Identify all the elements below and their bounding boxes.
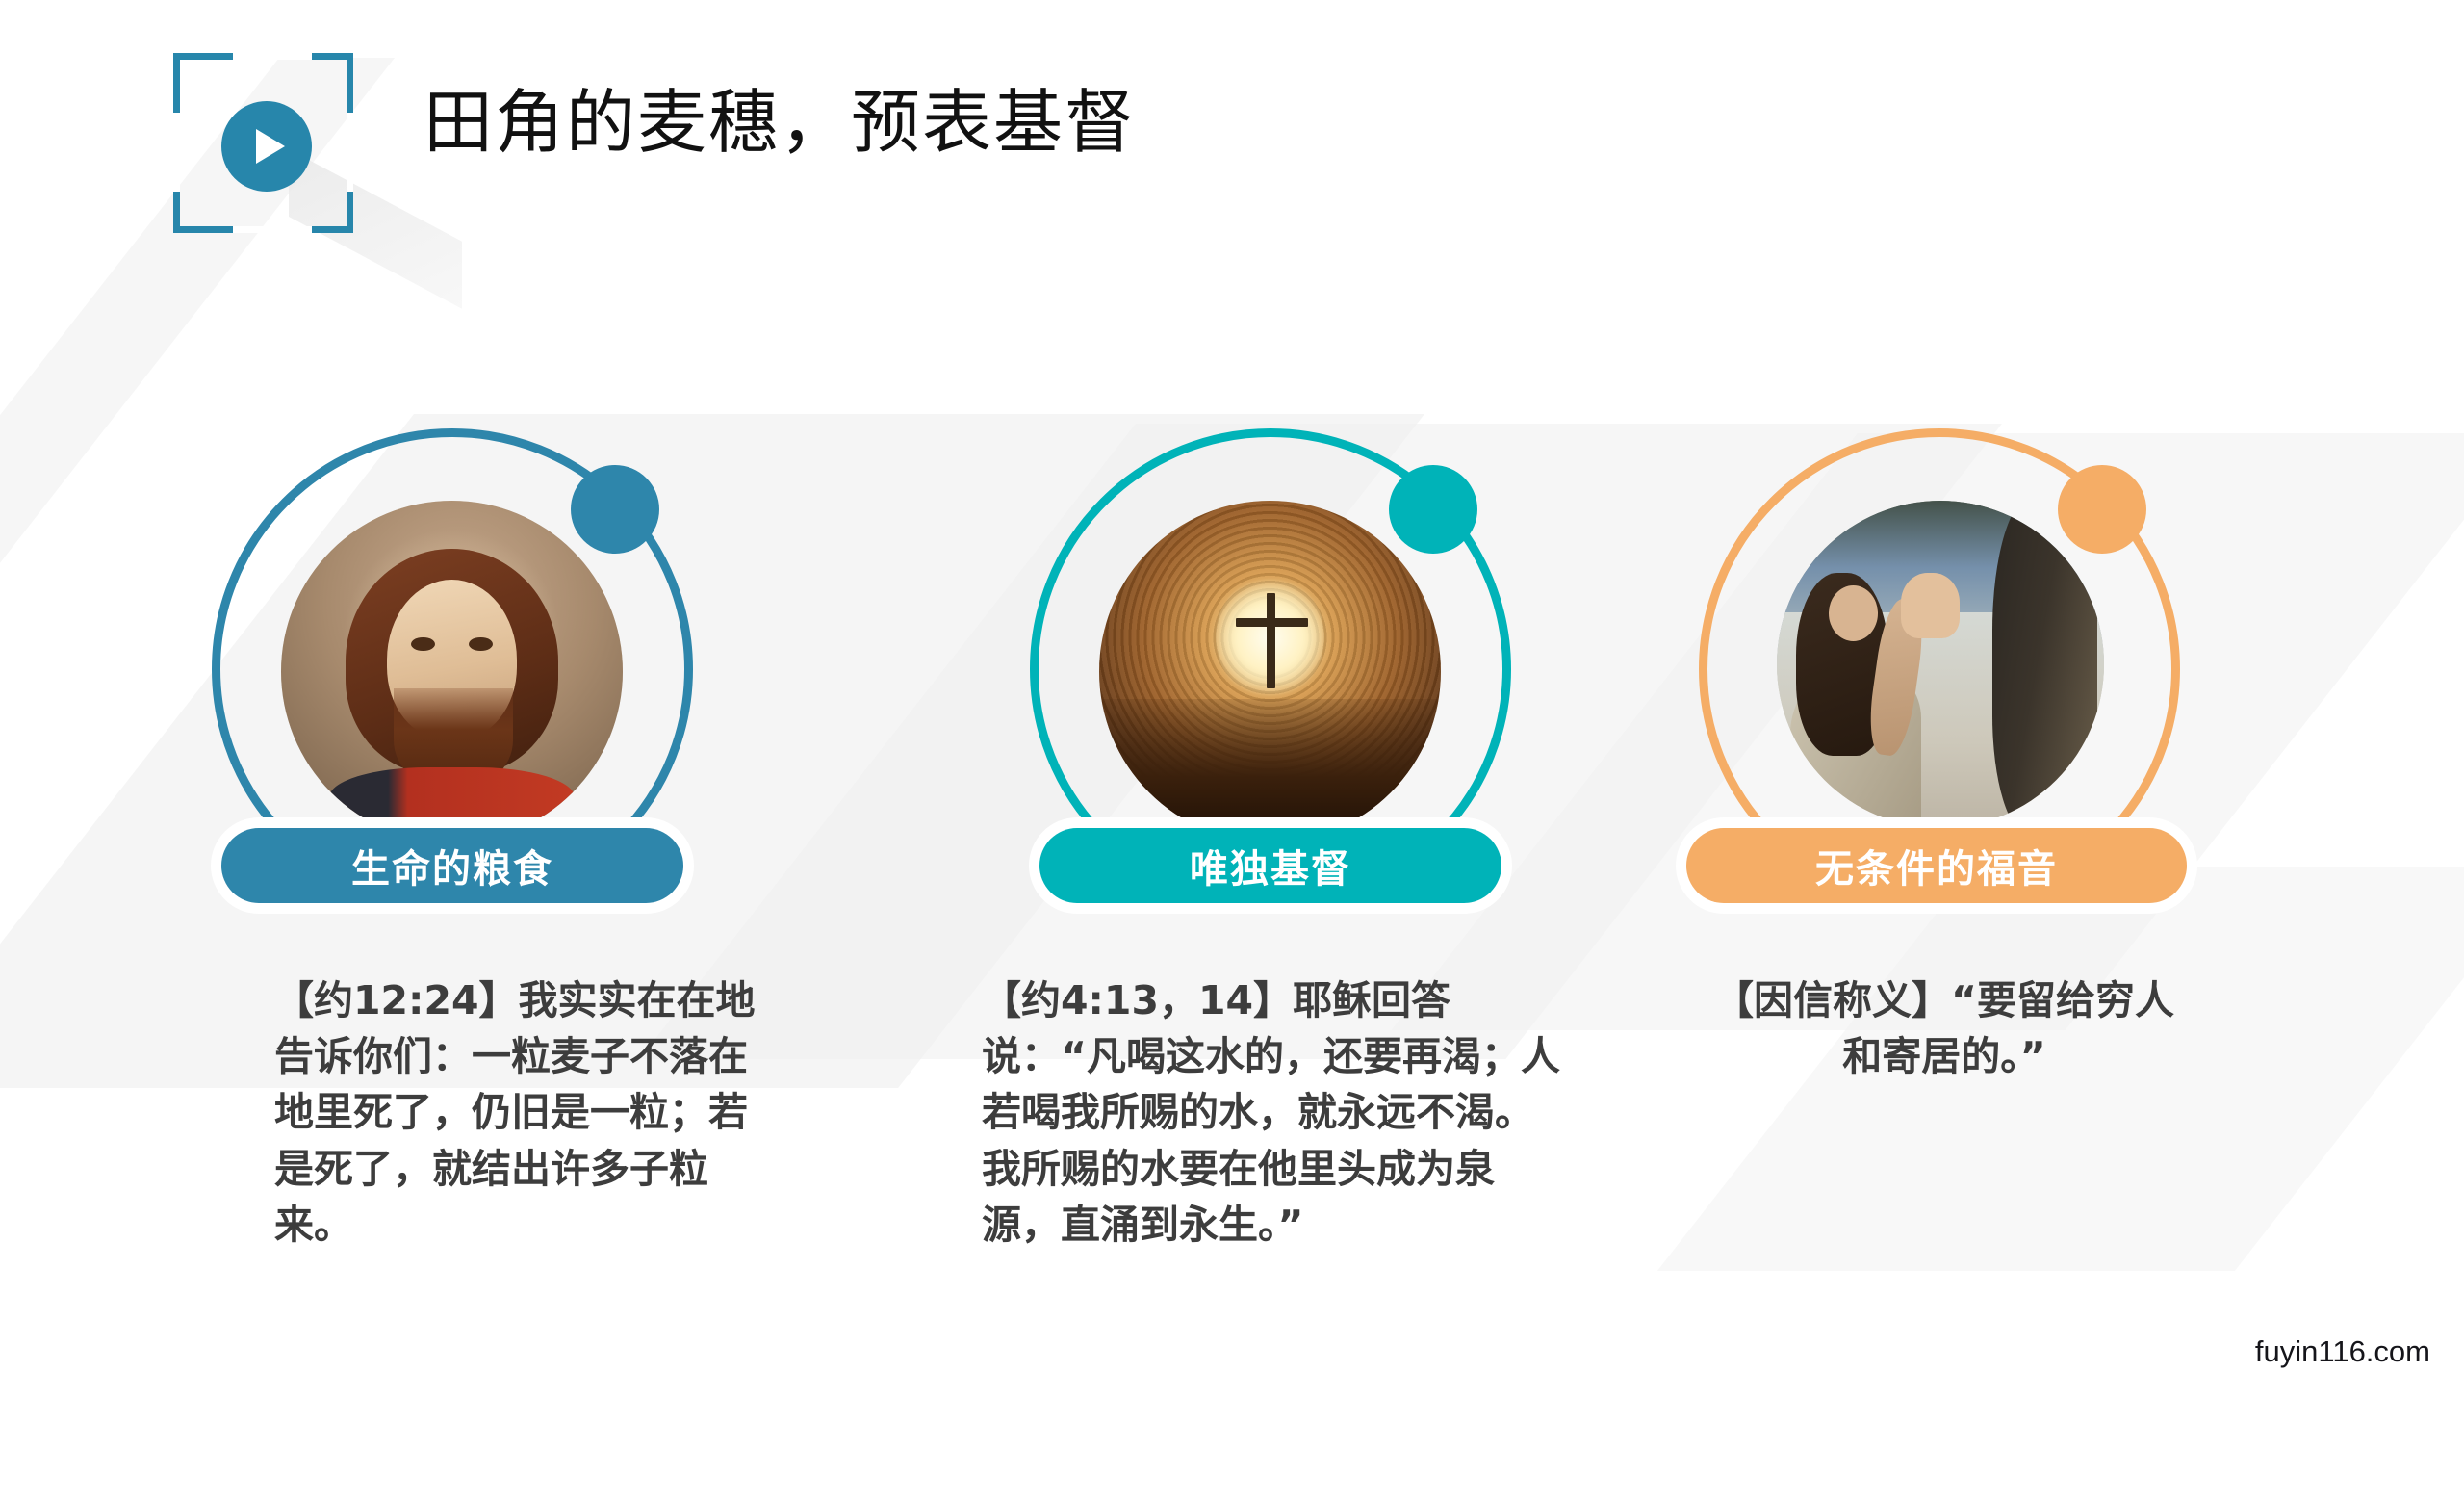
- column-2-label[interactable]: 唯独基督: [1039, 828, 1501, 903]
- content-column-2: 唯独基督 【约4:13，14】耶稣回答说：“凡喝这水的，还要再渴；人若喝我所赐的…: [866, 414, 1559, 895]
- site-watermark: fuyin116.com: [2255, 1334, 2430, 1369]
- column-1-visual: 生命的粮食: [173, 414, 866, 895]
- column-3-body-text: 【因信称义】“要留给穷人和寄居的。”: [1704, 972, 2185, 1084]
- column-1-label[interactable]: 生命的粮食: [221, 828, 683, 903]
- column-1-label-text: 生命的粮食: [351, 838, 553, 893]
- column-2-body-text: 【约4:13，14】耶稣回答说：“凡喝这水的，还要再渴；人若喝我所赐的水，就永远…: [982, 972, 1569, 1253]
- column-2-visual: 唯独基督: [866, 414, 1559, 895]
- column-3-label[interactable]: 无条件的福音: [1686, 828, 2187, 903]
- content-columns: 生命的粮食 【约12:24】我实实在在地告诉你们：一粒麦子不落在地里死了，仍旧是…: [0, 0, 2464, 1386]
- content-column-3: 无条件的福音 【因信称义】“要留给穷人和寄居的。”: [1598, 414, 2291, 895]
- column-3-label-text: 无条件的福音: [1815, 838, 2058, 893]
- column-3-image: [1777, 501, 2104, 828]
- column-2-label-text: 唯独基督: [1190, 838, 1351, 893]
- column-3-visual: 无条件的福音: [1598, 414, 2291, 895]
- column-2-image: [1099, 501, 1441, 842]
- column-1-image: [281, 501, 623, 842]
- content-column-1: 生命的粮食 【约12:24】我实实在在地告诉你们：一粒麦子不落在地里死了，仍旧是…: [173, 414, 866, 895]
- column-1-body-text: 【约12:24】我实实在在地告诉你们：一粒麦子不落在地里死了，仍旧是一粒；若是死…: [274, 972, 775, 1253]
